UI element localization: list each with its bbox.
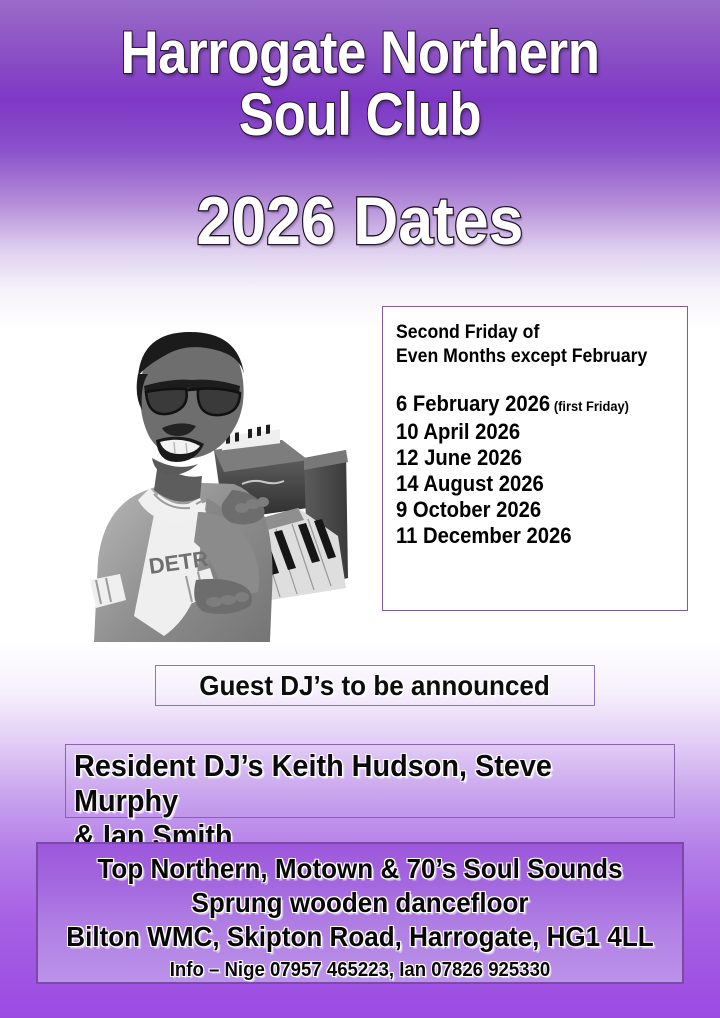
date-row: 14 August 2026 [396,471,664,497]
date-row: 12 June 2026 [396,445,664,471]
date-row: 6 February 2026(first Friday) [396,391,664,419]
date-value: 6 February 2026 [396,391,550,416]
title-line-2: Soul Club [43,84,677,146]
dates-heading-line-1: Second Friday of [396,321,667,345]
guest-dj-box: Guest DJ’s to be announced [155,665,595,706]
keyboard-player-photo: DETRO [46,312,358,642]
date-note: (first Friday) [554,398,629,414]
date-row: 10 April 2026 [396,419,664,445]
footer-line-dancefloor: Sprung wooden dancefloor [61,886,660,920]
venue-footer-box: Top Northern, Motown & 70’s Soul Sounds … [36,842,684,984]
footer-line-address: Bilton WMC, Skipton Road, Harrogate, HG1… [61,920,660,954]
title-line-1: Harrogate Northern [43,22,677,84]
date-value: 14 August 2026 [396,471,544,496]
guest-dj-text: Guest DJ’s to be announced [200,671,551,701]
poster-subtitle: 2026 Dates [29,183,691,259]
date-value: 10 April 2026 [396,419,520,444]
poster-canvas: Harrogate Northern Soul Club 2026 Dates [0,0,720,1018]
footer-line-sounds: Top Northern, Motown & 70’s Soul Sounds [61,852,660,886]
resident-dj-line-1: Resident DJ’s Keith Hudson, Steve Murphy [74,748,632,818]
date-value: 12 June 2026 [396,445,522,470]
resident-dj-box: Resident DJ’s Keith Hudson, Steve Murphy… [65,744,675,818]
poster-title: Harrogate Northern Soul Club [0,22,720,146]
dates-heading-line-2: Even Months except February [396,345,667,369]
date-value: 11 December 2026 [396,523,572,548]
date-row: 11 December 2026 [396,523,664,549]
date-value: 9 October 2026 [396,497,541,522]
dates-box: Second Friday of Even Months except Febr… [382,306,688,611]
footer-contact-info: Info – Nige 07957 465223, Ian 07826 9253… [61,957,660,983]
dates-list: 6 February 2026(first Friday) 10 April 2… [396,391,687,549]
date-row: 9 October 2026 [396,497,664,523]
